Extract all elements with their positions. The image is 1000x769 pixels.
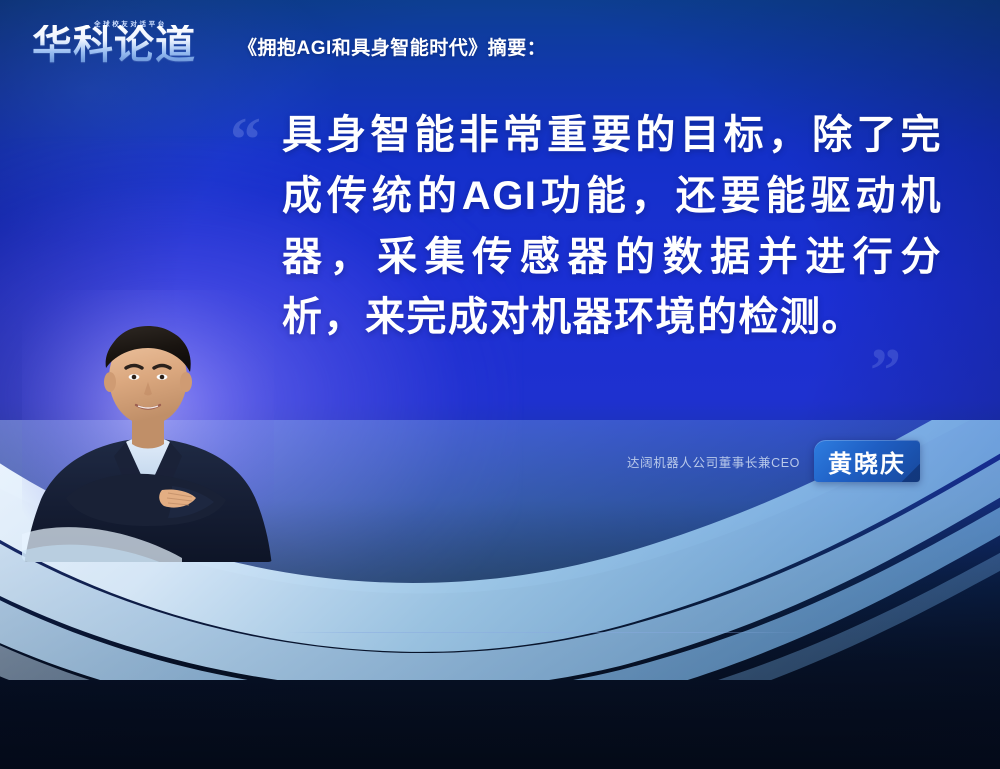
brand-logo[interactable]: 全球校友对话平台 华科论道 bbox=[22, 16, 222, 76]
logo-wordmark: 华科论道 bbox=[32, 25, 196, 65]
quote-block: “ ” 具身智能非常重要的目标，除了完成传统的AGI功能，还要能驱动机器，采集传… bbox=[230, 105, 950, 348]
quote-open-mark: “ bbox=[230, 109, 261, 171]
quote-close-mark: ” bbox=[870, 340, 901, 402]
speaker-role: 达阔机器人公司董事长兼CEO bbox=[627, 452, 800, 471]
header: 全球校友对话平台 华科论道 《拥抱AGI和具身智能时代》摘要： bbox=[0, 0, 1000, 92]
footer: 入群请咨询工作人员： 微信号 srh15029033920 (苏同学) 微信号 … bbox=[0, 640, 1000, 769]
poster-canvas: 全球校友对话平台 华科论道 《拥抱AGI和具身智能时代》摘要： bbox=[0, 0, 1000, 769]
attribution: 达阔机器人公司董事长兼CEO 黄晓庆 bbox=[627, 440, 920, 482]
quote-text: 具身智能非常重要的目标，除了完成传统的AGI功能，还要能驱动机器，采集传感器的数… bbox=[282, 105, 942, 348]
footer-divider bbox=[285, 632, 805, 633]
page-title: 《拥抱AGI和具身智能时代》摘要： bbox=[238, 33, 546, 60]
speaker-name-badge: 黄晓庆 bbox=[814, 440, 920, 482]
